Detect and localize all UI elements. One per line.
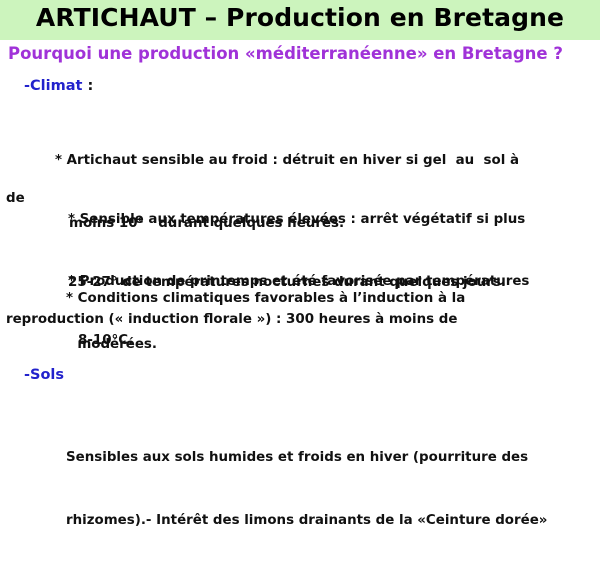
section-heading-sols: -Sols [24,367,64,383]
subtitle: Pourquoi une production «méditerranéenne… [8,44,598,63]
section-heading-climat-colon: : [82,78,93,94]
section-heading-climat: -Climat : [24,78,93,94]
section-heading-climat-label: -Climat [24,78,82,94]
paragraph-printemps-ete-line-2: modérées. [68,334,529,355]
slide-canvas: ARTICHAUT – Production en Bretagne Pourq… [0,0,600,450]
paragraph-sols-humides: Sensibles aux sols humides et froids en … [66,405,547,573]
paragraph-induction-florale-line-3: 8-10°C. [78,330,133,351]
paragraph-sols-humides-line-1: Sensibles aux sols humides et froids en … [66,447,547,468]
paragraph-temperatures-elevees-line-1: * Sensible aux températures élevées : ar… [68,209,525,230]
page-title: ARTICHAUT – Production en Bretagne [0,3,600,32]
paragraph-induction-florale-line-2: reproduction (« induction florale ») : 3… [6,309,457,330]
paragraph-temperatures-elevees-hanging-word: de [6,188,25,209]
paragraph-induction-florale-line-1: * Conditions climatiques favorables à l’… [66,288,465,309]
paragraph-sols-humides-line-2: rhizomes).- Intérêt des limons drainants… [66,510,547,531]
title-band: ARTICHAUT – Production en Bretagne [0,0,600,40]
